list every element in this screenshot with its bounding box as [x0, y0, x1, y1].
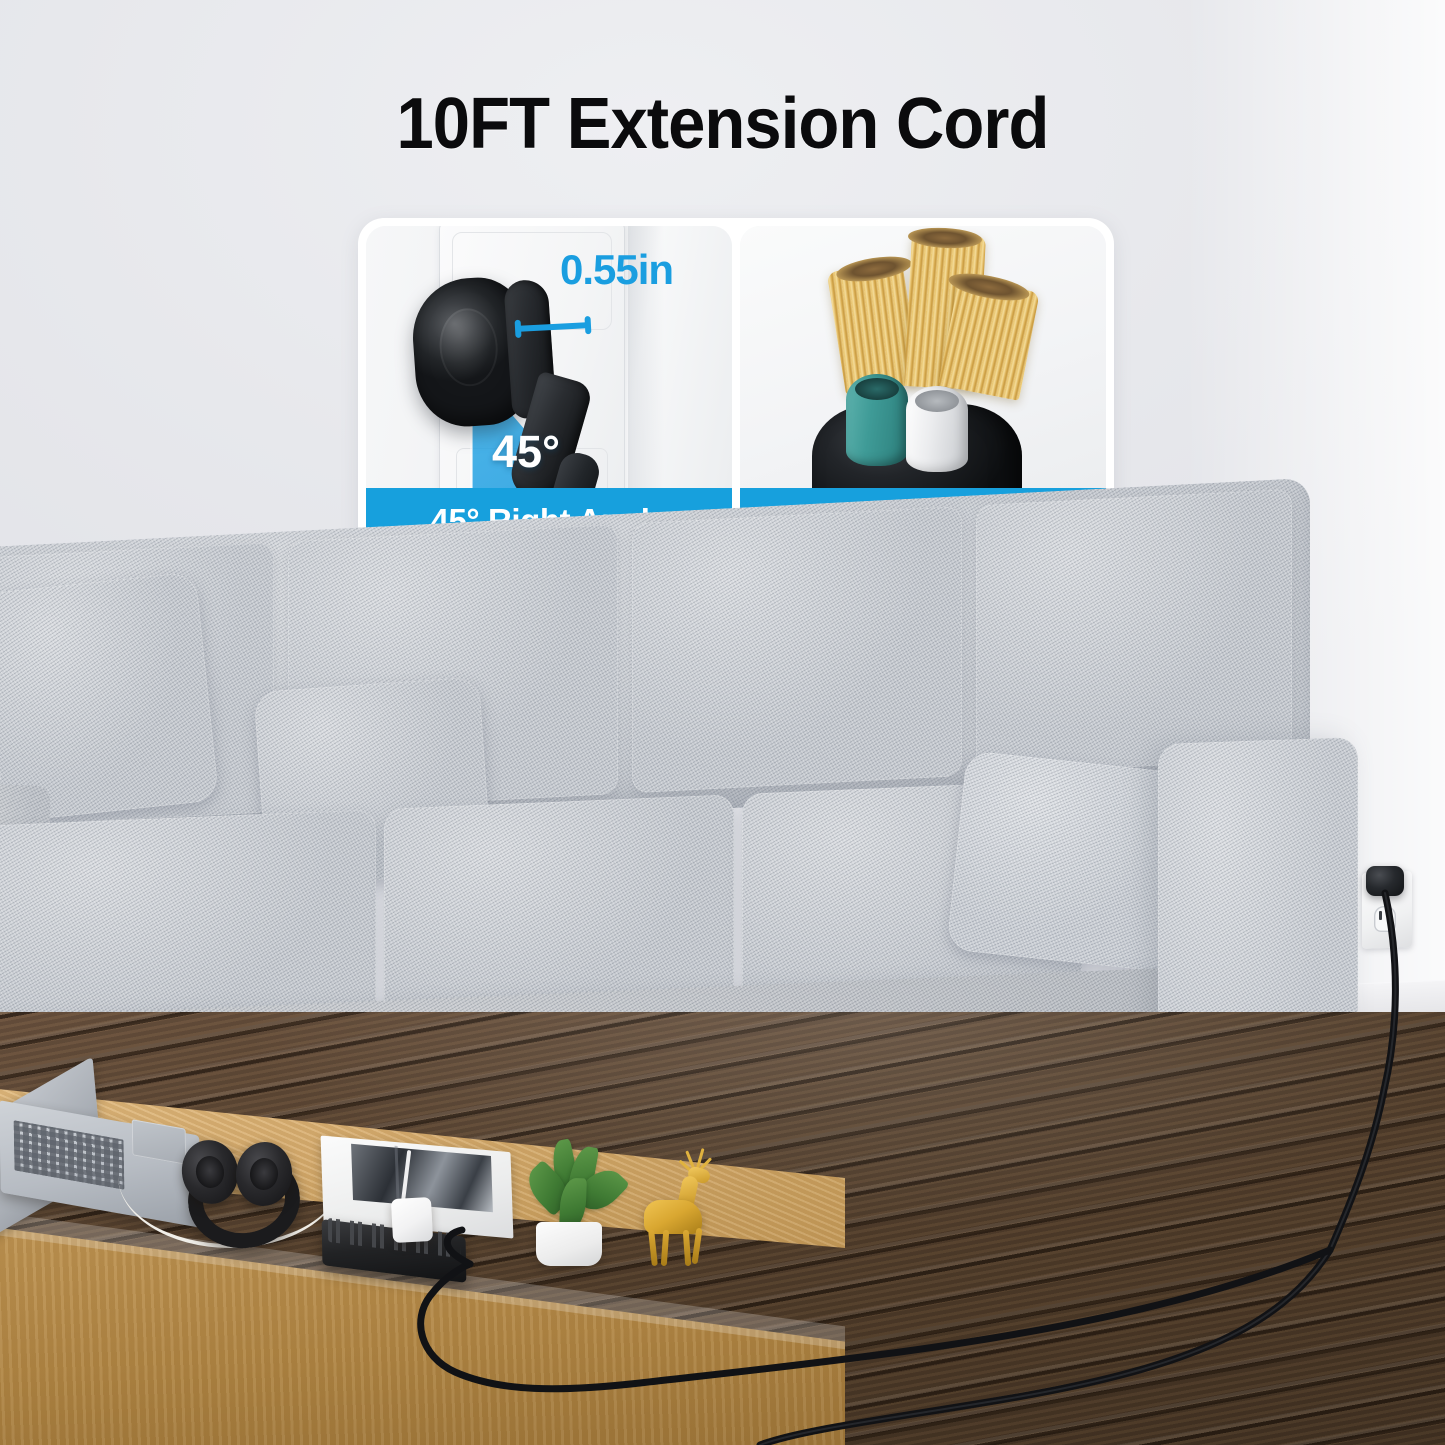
- gold-deer-figurine: [636, 1156, 712, 1264]
- cord-wall-plug: [1366, 866, 1404, 896]
- feature-panel-right-angle: 0.55in 45° 45° Right Angle: [366, 226, 732, 554]
- deer-body: [644, 1200, 702, 1234]
- thickness-label: 0.55in: [560, 246, 673, 294]
- conductor-white-insulation: [906, 386, 968, 472]
- outlet-socket: [1374, 906, 1396, 932]
- angle-label: 45°: [492, 426, 560, 478]
- product-lifestyle-image: 10FT Extension Cord 0.55in 45° 45° Right…: [0, 0, 1445, 1445]
- deer-leg: [683, 1230, 691, 1266]
- conductor-teal-insulation: [846, 374, 908, 466]
- right-angle-illustration: 0.55in 45°: [366, 226, 732, 488]
- back-cushion: [632, 506, 962, 793]
- deer-leg: [648, 1230, 658, 1266]
- deer-leg: [661, 1230, 669, 1266]
- usb-charger: [391, 1197, 433, 1243]
- page-title: 10FT Extension Cord: [51, 83, 1395, 165]
- back-cushion: [976, 489, 1292, 776]
- cable-cross-section-illustration: [740, 226, 1106, 488]
- plant-pot: [536, 1222, 602, 1266]
